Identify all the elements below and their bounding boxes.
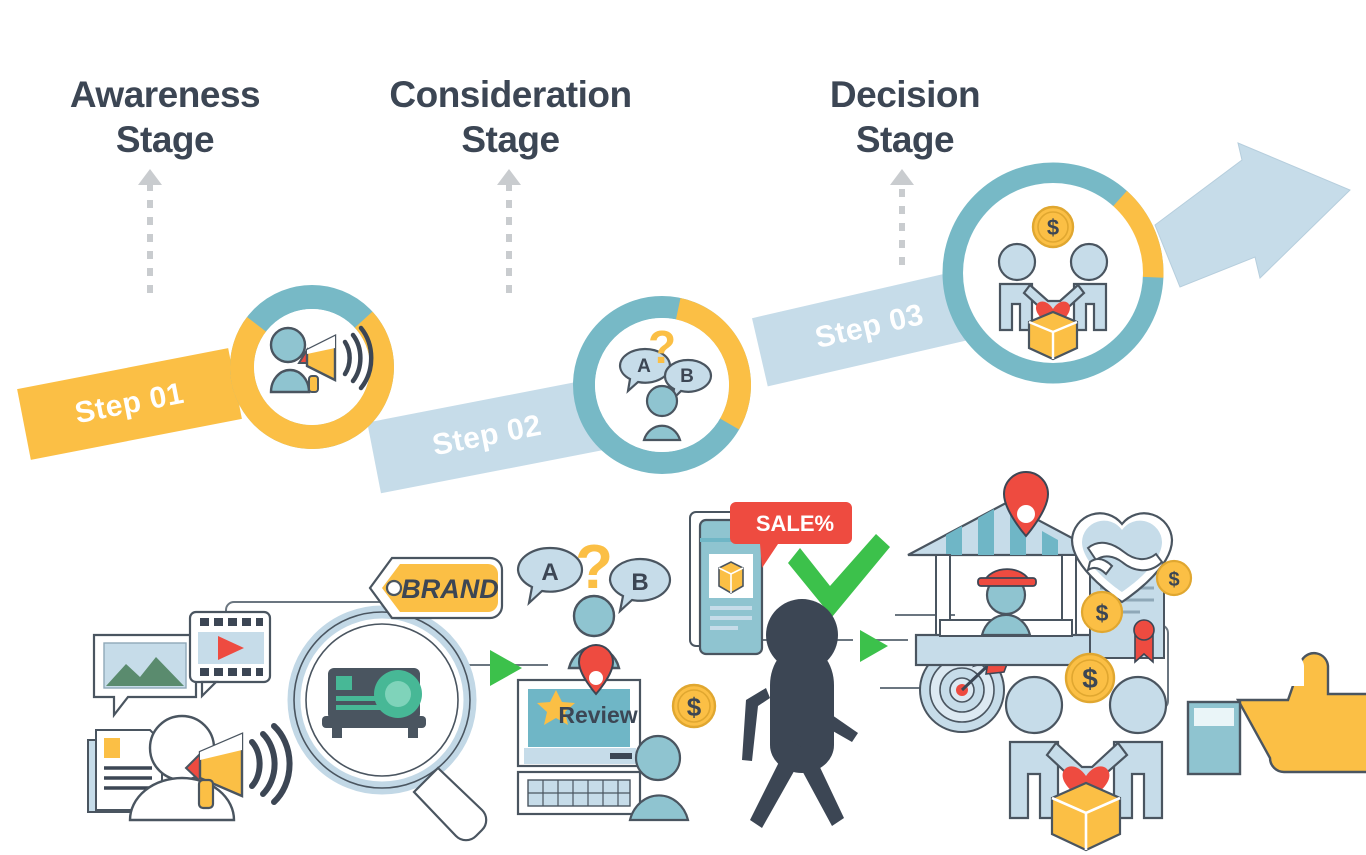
speech-bubble-a-icon: A [541, 559, 558, 586]
handshake-certificate-icon: $ $ [1072, 513, 1191, 662]
people-heart-package-icon: $ [1006, 654, 1166, 850]
green-arrow-icon [860, 630, 888, 662]
svg-text:$: $ [1168, 569, 1179, 591]
brand-tag-label: BRAND [401, 574, 499, 604]
coin-dollar-icon: $ [1047, 215, 1059, 240]
image-placeholder-icon [94, 635, 196, 715]
dashed-arrow-decision [880, 165, 930, 270]
stage-title-decision: Decision Stage [790, 72, 1020, 162]
step-banner-01-label: Step 01 [72, 377, 187, 431]
thumbs-up-icon [1188, 653, 1366, 774]
dashed-arrow-awareness [128, 165, 178, 295]
stage-title-consideration: Consideration Stage [378, 72, 643, 162]
laptop-review-icon: Review [518, 645, 688, 820]
customer-journey-illustration: BRAND A B ? Review [60, 490, 1360, 855]
video-play-bubble-icon [190, 612, 270, 696]
question-mark-icon: ? [575, 533, 613, 602]
infographic-canvas: Awareness Stage Consideration Stage Deci… [0, 0, 1366, 855]
step-banner-03-label: Step 03 [812, 298, 927, 356]
donut-chart-decision: $ [932, 152, 1174, 394]
step-banner-01[interactable]: Step 01 [17, 348, 242, 460]
donut-chart-awareness [225, 280, 400, 455]
svg-text:$: $ [687, 692, 702, 722]
review-label: Review [558, 702, 637, 728]
bubble-b-label: B [680, 366, 694, 387]
stage-title-awareness: Awareness Stage [40, 72, 290, 162]
big-right-arrow-icon [1150, 135, 1360, 305]
svg-text:$: $ [1096, 600, 1109, 626]
sale-label: SALE% [756, 511, 834, 536]
brand-tag-icon: BRAND [370, 558, 502, 618]
coin-dollar-icon: $ [673, 685, 715, 727]
speech-bubble-b-icon: B [631, 569, 648, 596]
dashed-arrow-consideration [487, 165, 537, 295]
step-banner-02-label: Step 02 [430, 409, 545, 463]
storefront-icon [908, 472, 1104, 665]
svg-text:$: $ [1082, 663, 1098, 694]
question-mark-icon: ? [648, 321, 676, 373]
donut-chart-consideration: A B ? [565, 288, 760, 483]
magnifier-projector-icon [294, 612, 486, 840]
